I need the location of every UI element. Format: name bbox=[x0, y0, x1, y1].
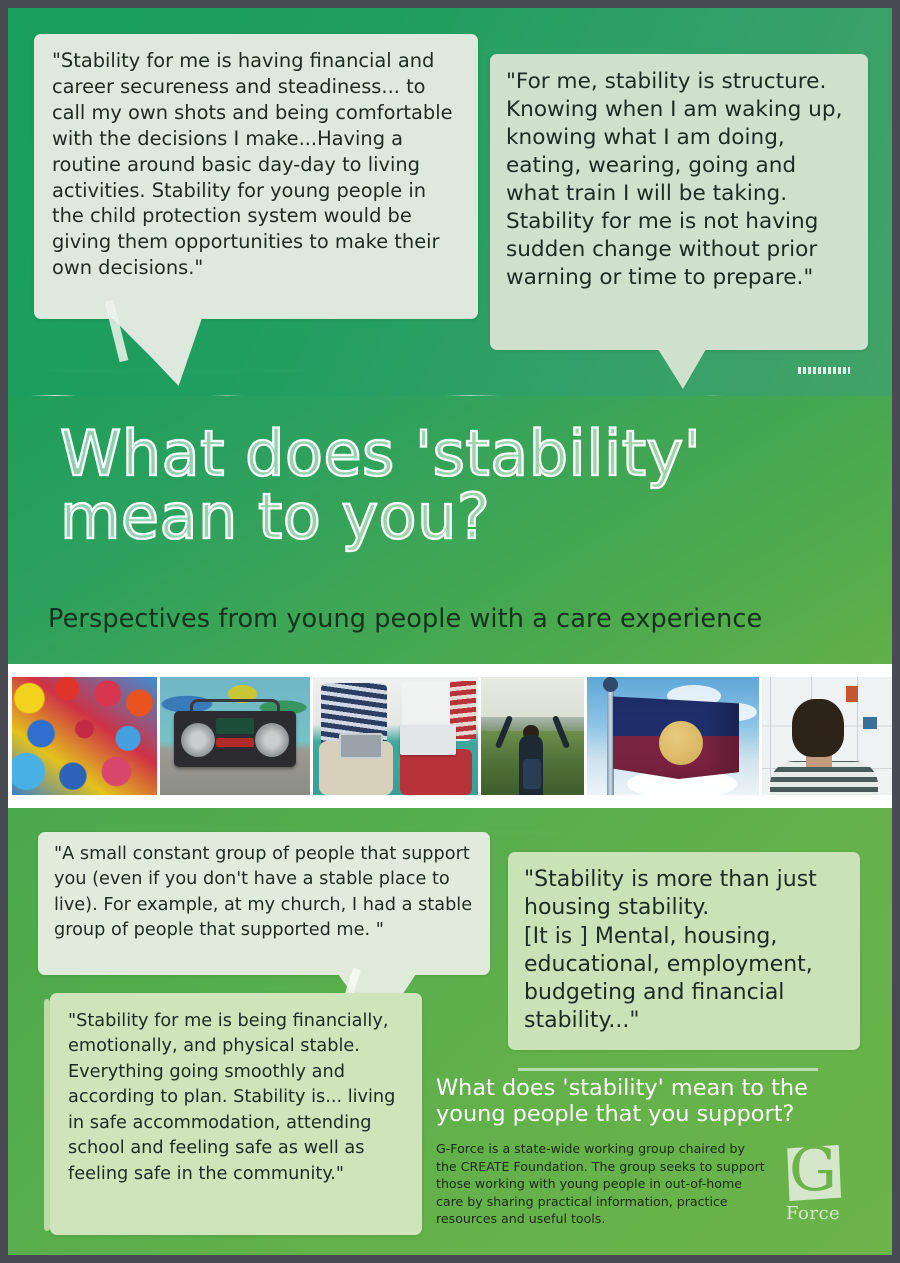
headline-band: What does 'stability' mean to you? Persp… bbox=[8, 396, 892, 664]
quote-text: "For me, stability is structure. Knowing… bbox=[506, 68, 852, 293]
boombox-photo bbox=[160, 677, 310, 795]
quote-bubble-bottom-right: "Stability is more than just housing sta… bbox=[508, 852, 860, 1050]
note-accent-orange bbox=[846, 686, 858, 702]
red-trousers bbox=[400, 749, 472, 795]
bubble-edge-accent bbox=[44, 999, 50, 1231]
boombox-body bbox=[174, 711, 296, 767]
quote-bubble-top-right: "For me, stability is structure. Knowing… bbox=[490, 54, 868, 350]
speaker-left bbox=[181, 723, 215, 757]
person-head-back bbox=[792, 699, 844, 757]
page-subtitle: Perspectives from young people with a ca… bbox=[48, 604, 878, 634]
person-at-noticeboard-photo bbox=[762, 677, 892, 795]
quote-text: "Stability for me is having financial an… bbox=[52, 48, 460, 281]
note-accent-blue bbox=[863, 717, 877, 729]
logo-letter: G bbox=[783, 1139, 843, 1201]
boombox-display bbox=[216, 718, 254, 734]
aboriginal-torres-strait-flag-photo bbox=[587, 677, 759, 795]
brush-accent-footer bbox=[518, 1068, 818, 1071]
g-force-logo: G Force bbox=[783, 1143, 849, 1235]
logo-wordmark: Force bbox=[786, 1203, 848, 1224]
tablet-device bbox=[339, 733, 383, 759]
graffiti-wall-photo bbox=[12, 677, 157, 795]
backpack bbox=[523, 759, 541, 789]
brush-accent bbox=[798, 367, 850, 374]
young-people-devices-photo bbox=[313, 677, 478, 795]
quote-text: "Stability is more than just housing sta… bbox=[524, 866, 842, 1036]
boombox-handle bbox=[190, 699, 280, 711]
flag-pole-finial bbox=[603, 677, 618, 692]
speaker-right bbox=[255, 723, 289, 757]
quote-bubble-bottom-left-upper: "A small constant group of people that s… bbox=[38, 832, 490, 975]
arms-raised-field-photo bbox=[481, 677, 584, 795]
boombox-controls bbox=[216, 738, 254, 747]
quote-bubble-top-left: "Stability for me is having financial an… bbox=[34, 34, 478, 319]
flag-circle-emblem bbox=[659, 721, 703, 765]
footer-description: G-Force is a state-wide working group ch… bbox=[436, 1140, 766, 1228]
quote-text: "Stability for me is being financially, … bbox=[68, 1009, 404, 1187]
footer-question: What does 'stability' mean to the young … bbox=[436, 1076, 866, 1128]
poster-canvas: "Stability for me is having financial an… bbox=[8, 8, 892, 1255]
quote-text: "A small constant group of people that s… bbox=[54, 842, 474, 944]
laptop-device bbox=[400, 725, 456, 755]
photo-strip bbox=[8, 664, 892, 808]
quote-bubble-bottom-left-lower: "Stability for me is being financially, … bbox=[50, 993, 422, 1235]
page-title: What does 'stability' mean to you? bbox=[60, 422, 860, 548]
flag-pole bbox=[607, 681, 614, 795]
